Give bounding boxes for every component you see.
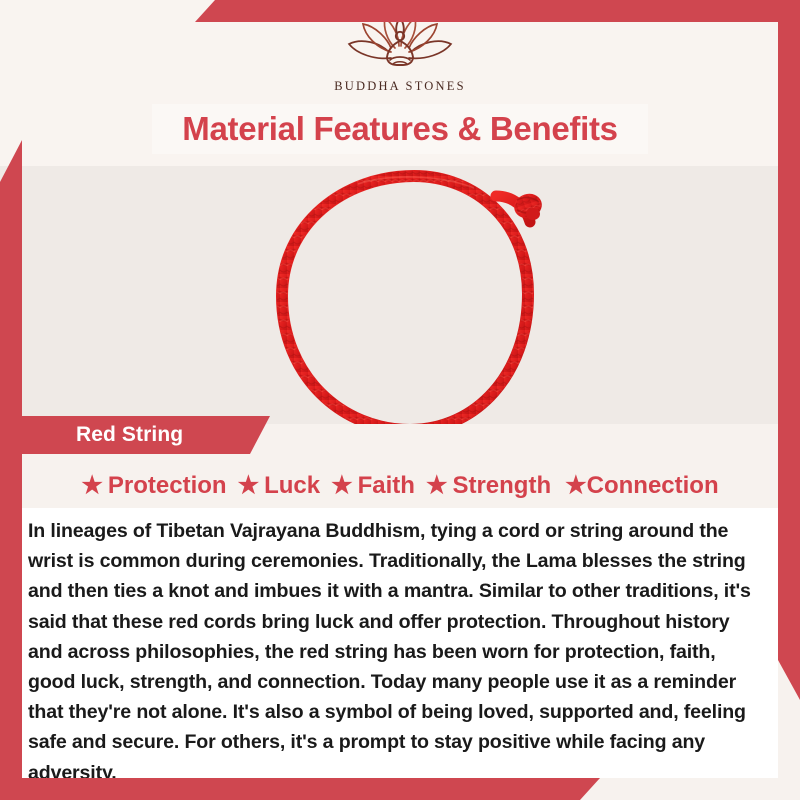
- description-text: In lineages of Tibetan Vajrayana Buddhis…: [28, 516, 764, 788]
- ribbon-left-connector: [0, 416, 22, 454]
- benefit-label: Protection: [108, 472, 227, 500]
- benefit-item-strength: ★ Strength: [426, 472, 551, 500]
- product-name-ribbon: Red String: [22, 416, 270, 454]
- frame-left-bar: [0, 140, 22, 800]
- brand-name: BUDDHA STONES: [334, 79, 466, 94]
- page-title: Material Features & Benefits: [182, 110, 617, 148]
- benefit-item-protection: ★ Protection: [81, 472, 226, 500]
- benefit-item-connection: ★ Connection: [565, 472, 719, 500]
- star-icon: ★: [426, 474, 448, 498]
- poster-root: BUDDHA STONES Material Features & Benefi…: [0, 0, 800, 800]
- frame-right-bar: [778, 0, 800, 700]
- benefit-item-luck: ★ Luck: [238, 472, 321, 500]
- benefit-item-faith: ★ Faith: [331, 472, 415, 500]
- red-string-bracelet-image: [238, 166, 588, 424]
- star-icon: ★: [565, 474, 587, 498]
- lotus-meditation-logo-icon: [341, 14, 459, 76]
- bracelet-knot: [511, 190, 545, 221]
- benefit-label: Faith: [358, 472, 415, 500]
- brand-logo: BUDDHA STONES: [0, 14, 800, 94]
- description-panel: In lineages of Tibetan Vajrayana Buddhis…: [22, 508, 778, 778]
- star-icon: ★: [238, 474, 260, 498]
- benefits-row: ★ Protection ★ Luck ★ Faith ★ Strength ★…: [22, 466, 778, 506]
- product-photo-area: [0, 166, 800, 424]
- benefit-label: Strength: [452, 472, 551, 500]
- star-icon: ★: [331, 474, 353, 498]
- benefit-label: Connection: [587, 472, 719, 500]
- star-icon: ★: [81, 474, 103, 498]
- title-banner: Material Features & Benefits: [152, 104, 648, 154]
- benefit-label: Luck: [264, 472, 320, 500]
- product-name-label: Red String: [76, 423, 183, 447]
